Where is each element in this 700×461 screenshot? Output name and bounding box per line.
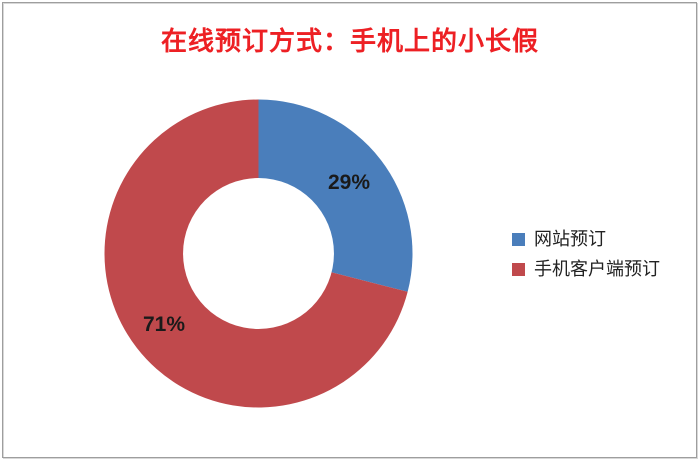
- legend-label-website: 网站预订: [534, 229, 606, 249]
- data-label-website: 29%: [328, 171, 370, 195]
- legend-label-mobile-app: 手机客户端预订: [534, 259, 660, 279]
- data-label-mobile-app: 71%: [143, 313, 185, 337]
- legend-swatch-icon-website: [512, 233, 525, 246]
- legend-swatch-icon-mobile-app: [512, 263, 525, 276]
- donut-chart: [104, 99, 413, 408]
- page-title: 在线预订方式：手机上的小长假: [0, 24, 700, 58]
- chart-legend: 网站预订 手机客户端预订: [512, 224, 660, 284]
- legend-item-mobile-app[interactable]: 手机客户端预订: [512, 254, 660, 284]
- legend-item-website[interactable]: 网站预订: [512, 224, 660, 254]
- donut-chart-svg: [104, 99, 413, 408]
- chart-canvas: 在线预订方式：手机上的小长假 29% 71% 网站预订 手机客户端预订: [0, 0, 700, 461]
- donut-hole: [183, 178, 334, 329]
